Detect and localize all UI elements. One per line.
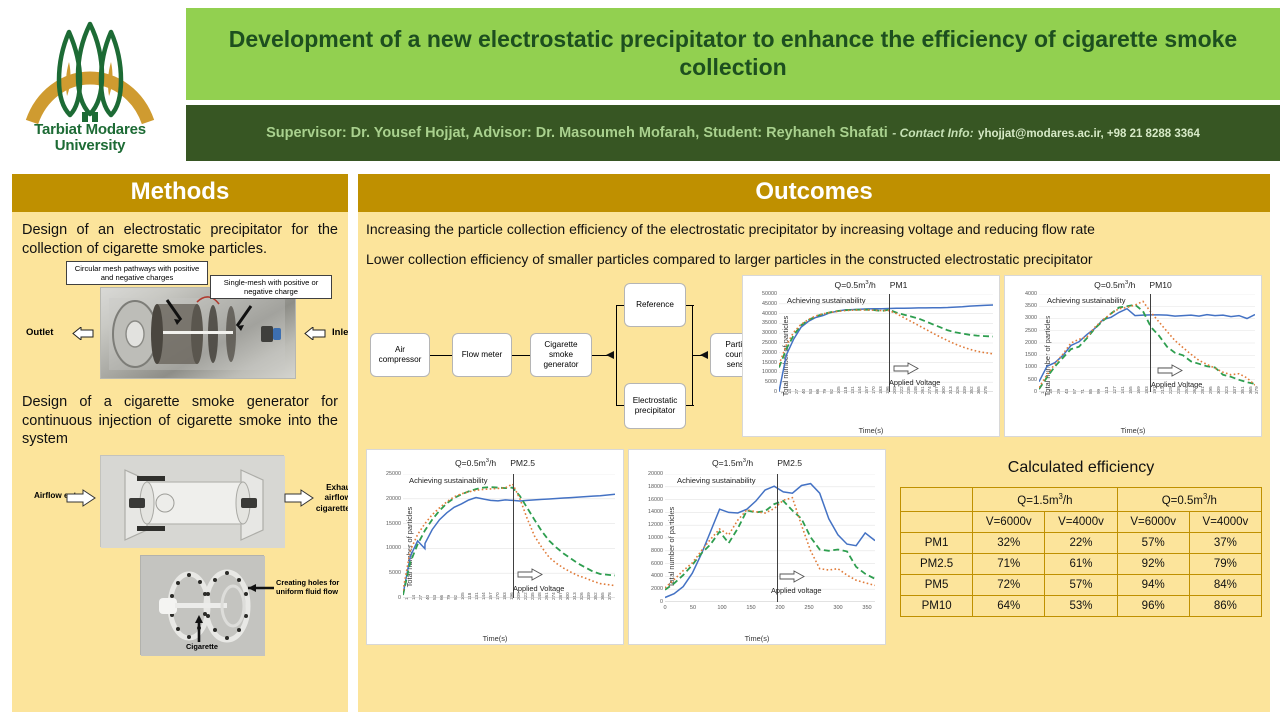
table-cell-pm5-q05-v6000: 94% — [1117, 574, 1189, 595]
table-cell-pm1-q05-v6000: 57% — [1117, 532, 1189, 553]
esp-callout-left: Circular mesh pathways with positive and… — [66, 261, 208, 286]
logo-text: Tarbiat Modares University — [34, 122, 146, 154]
chart-pm25-q05: Q=0.5m3/hPM2.5 Total number of particles… — [366, 449, 624, 645]
outcomes-section-header: Outcomes — [358, 174, 1270, 212]
authors-bar: Supervisor: Dr. Yousef Hojjat, Advisor: … — [186, 105, 1280, 161]
table-header-row-voltage: V=6000v V=4000v V=6000v V=4000v — [901, 511, 1262, 532]
table-cell-pm5-q15-v6000: 72% — [973, 574, 1045, 595]
smoke-generator-figure: Airflow entry Exhaust of airflow with ci… — [22, 453, 338, 553]
table-header-v4000-q05: V=4000v — [1189, 511, 1261, 532]
exhaust-arrow-icon — [284, 489, 314, 507]
table-row: PM2.5 71% 61% 92% 79% — [901, 553, 1262, 574]
logo-mark-icon — [20, 14, 160, 126]
table-cell-pm5-q15-v4000: 57% — [1045, 574, 1117, 595]
table-row-label-pm10: PM10 — [901, 595, 973, 616]
chart-pm1-plot — [779, 294, 993, 392]
table-header-v6000-q15: V=6000v — [973, 511, 1045, 532]
chart-pm1-yaxis: 5000045000 4000035000 3000025000 2000015… — [743, 294, 777, 392]
chart-pm25-q05-xlabel: Time(s) — [367, 634, 623, 643]
chart-pm25-q05-pm: PM2.5 — [510, 458, 535, 468]
table-cell-pm10-q15-v6000: 64% — [973, 595, 1045, 616]
chart-pm1-title: Q=0.5m3/hPM1 — [743, 280, 999, 290]
university-logo: Tarbiat Modares University — [0, 0, 180, 168]
chart-pm25-q05-plot — [403, 474, 615, 598]
chart-pm25-q15-flow: Q=1.5m3/h — [712, 458, 753, 468]
chart-pm25-q05-voltage-marker — [513, 474, 514, 598]
cigarette-arrow-icon — [194, 611, 204, 643]
flow-node-electrostatic-precipitator: Electrostatic precipitator — [624, 383, 686, 429]
table-header-q15: Q=1.5m3/h — [973, 487, 1117, 511]
flow-connector-1 — [430, 355, 452, 356]
table-corner-cell-2 — [901, 511, 973, 532]
methods-paragraph-1: Design of an electrostatic precipitator … — [22, 221, 338, 259]
chart-pm10-pm: PM10 — [1149, 280, 1171, 290]
chart-pm1-pm: PM1 — [890, 280, 908, 290]
chart-pm25-q15: Q=1.5m3/hPM2.5 Total number of particles… — [628, 449, 886, 645]
table-cell-pm10-q05-v6000: 96% — [1117, 595, 1189, 616]
outcomes-column: Outcomes Increasing the particle collect… — [358, 174, 1270, 712]
flow-node-reference: Reference — [624, 283, 686, 327]
smoke-generator-photo — [100, 455, 284, 547]
efficiency-table: Q=1.5m3/h Q=0.5m3/h V=6000v V=4000v V=60… — [900, 487, 1262, 617]
poster-header: Tarbiat Modares University Development o… — [0, 0, 1280, 168]
methods-panel: Design of an electrostatic precipitator … — [12, 212, 348, 712]
chart-pm10: Q=0.5m3/hPM10 Total number of particles … — [1004, 275, 1262, 437]
table-cell-pm1-q05-v4000: 37% — [1189, 532, 1261, 553]
chart-pm25-q15-xlabel: Time(s) — [629, 634, 885, 643]
chart-pm10-flow: Q=0.5m3/h — [1094, 280, 1135, 290]
chart-pm25-q05-voltage-arrow-icon — [517, 568, 543, 581]
table-cell-pm5-q05-v4000: 84% — [1189, 574, 1261, 595]
table-cell-pm25-q05-v4000: 79% — [1189, 553, 1261, 574]
table-cell-pm1-q15-v4000: 22% — [1045, 532, 1117, 553]
chart-pm25-q05-flow: Q=0.5m3/h — [455, 458, 496, 468]
efficiency-table-title: Calculated efficiency — [900, 459, 1262, 477]
chart-pm10-xlabel: Time(s) — [1005, 426, 1261, 435]
chart-pm1-xlabel: Time(s) — [743, 426, 999, 435]
table-row-label-pm1: PM1 — [901, 532, 973, 553]
outcomes-paragraph-2: Lower collection efficiency of smaller p… — [366, 250, 1262, 268]
chart-pm25-q15-yaxis: 2000018000 1600014000 1200010000 8000600… — [629, 474, 663, 602]
cigarette-label: Cigarette — [174, 643, 230, 652]
table-cell-pm25-q15-v4000: 61% — [1045, 553, 1117, 574]
chart-pm25-q15-plot — [665, 474, 875, 602]
table-row: PM5 72% 57% 94% 84% — [901, 574, 1262, 595]
outcomes-paragraph-1: Increasing the particle collection effic… — [366, 220, 1262, 238]
flow-node-flow-meter: Flow meter — [452, 333, 512, 377]
chart-pm25-q05-title: Q=0.5m3/hPM2.5 — [367, 458, 623, 468]
esp-callout-right: Single-mesh with positive or negative ch… — [210, 275, 332, 300]
flow-merge-top — [686, 305, 694, 306]
esp-figure: Circular mesh pathways with positive and… — [22, 261, 338, 383]
calculated-efficiency-section: Calculated efficiency Q=1.5m3/h Q=0.5m3/… — [886, 449, 1262, 649]
table-header-v6000-q05: V=6000v — [1117, 511, 1189, 532]
cigarette-holder-figure: Creating holes for uniform fluid flow Ci… — [22, 555, 338, 659]
chart-pm10-plot — [1039, 294, 1255, 392]
table-row: PM1 32% 22% 57% 37% — [901, 532, 1262, 553]
authors-text: Supervisor: Dr. Yousef Hojjat, Advisor: … — [266, 125, 888, 141]
chart-pm1: Q=0.5m3/hPM1 Total number of particles A… — [742, 275, 1000, 437]
chart-pm1-xaxis: 114 2740 5366 7992 105118 131144 157170 … — [779, 394, 993, 420]
flow-split-top — [616, 305, 624, 306]
chart-pm10-yaxis: 40003500 30002500 20001500 1000500 0 — [1005, 294, 1037, 392]
flow-split-line — [616, 305, 617, 405]
chart-pm25-q15-voltage-arrow-icon — [779, 570, 805, 583]
contact-value: yhojjat@modares.ac.ir, +98 21 8288 3364 — [978, 128, 1200, 140]
table-row-label-pm25: PM2.5 — [901, 553, 973, 574]
flow-node-smoke-generator: Cigarette smoke generator — [530, 333, 592, 377]
flow-merge-bottom — [686, 405, 694, 406]
esp-outlet-label: Outlet — [26, 327, 53, 338]
table-header-row-flow: Q=1.5m3/h Q=0.5m3/h — [901, 487, 1262, 511]
flow-arrow-icon-2 — [700, 350, 710, 360]
methods-column: Methods Design of an electrostatic preci… — [12, 174, 348, 712]
chart-pm10-voltage-marker — [1150, 294, 1151, 392]
methods-paragraph-2: Design of a cigarette smoke generator fo… — [22, 393, 338, 450]
chart-pm10-title: Q=0.5m3/hPM10 — [1005, 280, 1261, 290]
chart-pm25-q15-title: Q=1.5m3/hPM2.5 — [629, 458, 885, 468]
table-header-v4000-q15: V=4000v — [1045, 511, 1117, 532]
flow-split-bottom — [616, 405, 624, 406]
esp-photo — [100, 287, 296, 379]
outlet-arrow-icon — [72, 327, 94, 340]
flow-node-air-compressor: Air compressor — [370, 333, 430, 377]
exhaust-label: Exhaust of airflow with cigarette smoke — [314, 483, 348, 514]
experimental-setup-flow-diagram: Air compressor Flow meter Cigarette smok… — [366, 275, 738, 443]
chart-pm1-applied-voltage-label: Applied Voltage — [889, 378, 940, 387]
table-cell-pm10-q15-v4000: 53% — [1045, 595, 1117, 616]
chart-pm25-q05-xaxis: 114 2740 5366 7992 105118 131144 157170 … — [403, 600, 615, 628]
table-corner-cell — [901, 487, 973, 511]
flow-arrow-icon-1 — [606, 350, 616, 360]
chart-pm1-flow: Q=0.5m3/h — [835, 280, 876, 290]
chart-pm10-voltage-arrow-icon — [1157, 364, 1183, 377]
table-cell-pm25-q05-v6000: 92% — [1117, 553, 1189, 574]
chart-pm1-voltage-arrow-icon — [893, 362, 919, 375]
airflow-entry-arrow-icon — [66, 489, 96, 507]
flow-connector-2 — [512, 355, 530, 356]
methods-section-header: Methods — [12, 174, 348, 212]
chart-pm10-applied-voltage-label: Applied Voltage — [1151, 380, 1202, 389]
table-cell-pm1-q15-v6000: 32% — [973, 532, 1045, 553]
holes-arrow-icon — [240, 583, 276, 593]
contact-label: - Contact Info: — [892, 126, 973, 140]
poster-title: Development of a new electrostatic preci… — [186, 8, 1280, 100]
table-row-label-pm5: PM5 — [901, 574, 973, 595]
esp-inlet-label: Inlet — [332, 327, 348, 338]
holes-label: Creating holes for uniform fluid flow — [276, 579, 348, 597]
chart-pm25-q15-voltage-marker — [777, 474, 778, 602]
table-row: PM10 64% 53% 96% 86% — [901, 595, 1262, 616]
chart-pm25-q15-pm: PM2.5 — [777, 458, 802, 468]
chart-pm25-q15-xaxis: 050 100150 200250 300350 — [665, 605, 875, 619]
chart-pm25-q15-applied-voltage-label: Applied voltage — [771, 586, 822, 595]
table-header-q05: Q=0.5m3/h — [1117, 487, 1261, 511]
chart-pm10-xaxis: 115 2943 5771 8599 113127 141155 169183 … — [1039, 394, 1255, 420]
chart-pm25-q05-yaxis: 2500020000 1500010000 50000 — [367, 474, 401, 598]
logo-line-2: University — [34, 138, 146, 154]
table-cell-pm25-q15-v6000: 71% — [973, 553, 1045, 574]
inlet-arrow-icon — [304, 327, 326, 340]
chart-pm25-q05-applied-voltage-label: Applied Voltage — [513, 584, 564, 593]
outcomes-panel: Increasing the particle collection effic… — [358, 212, 1270, 712]
table-cell-pm10-q05-v4000: 86% — [1189, 595, 1261, 616]
